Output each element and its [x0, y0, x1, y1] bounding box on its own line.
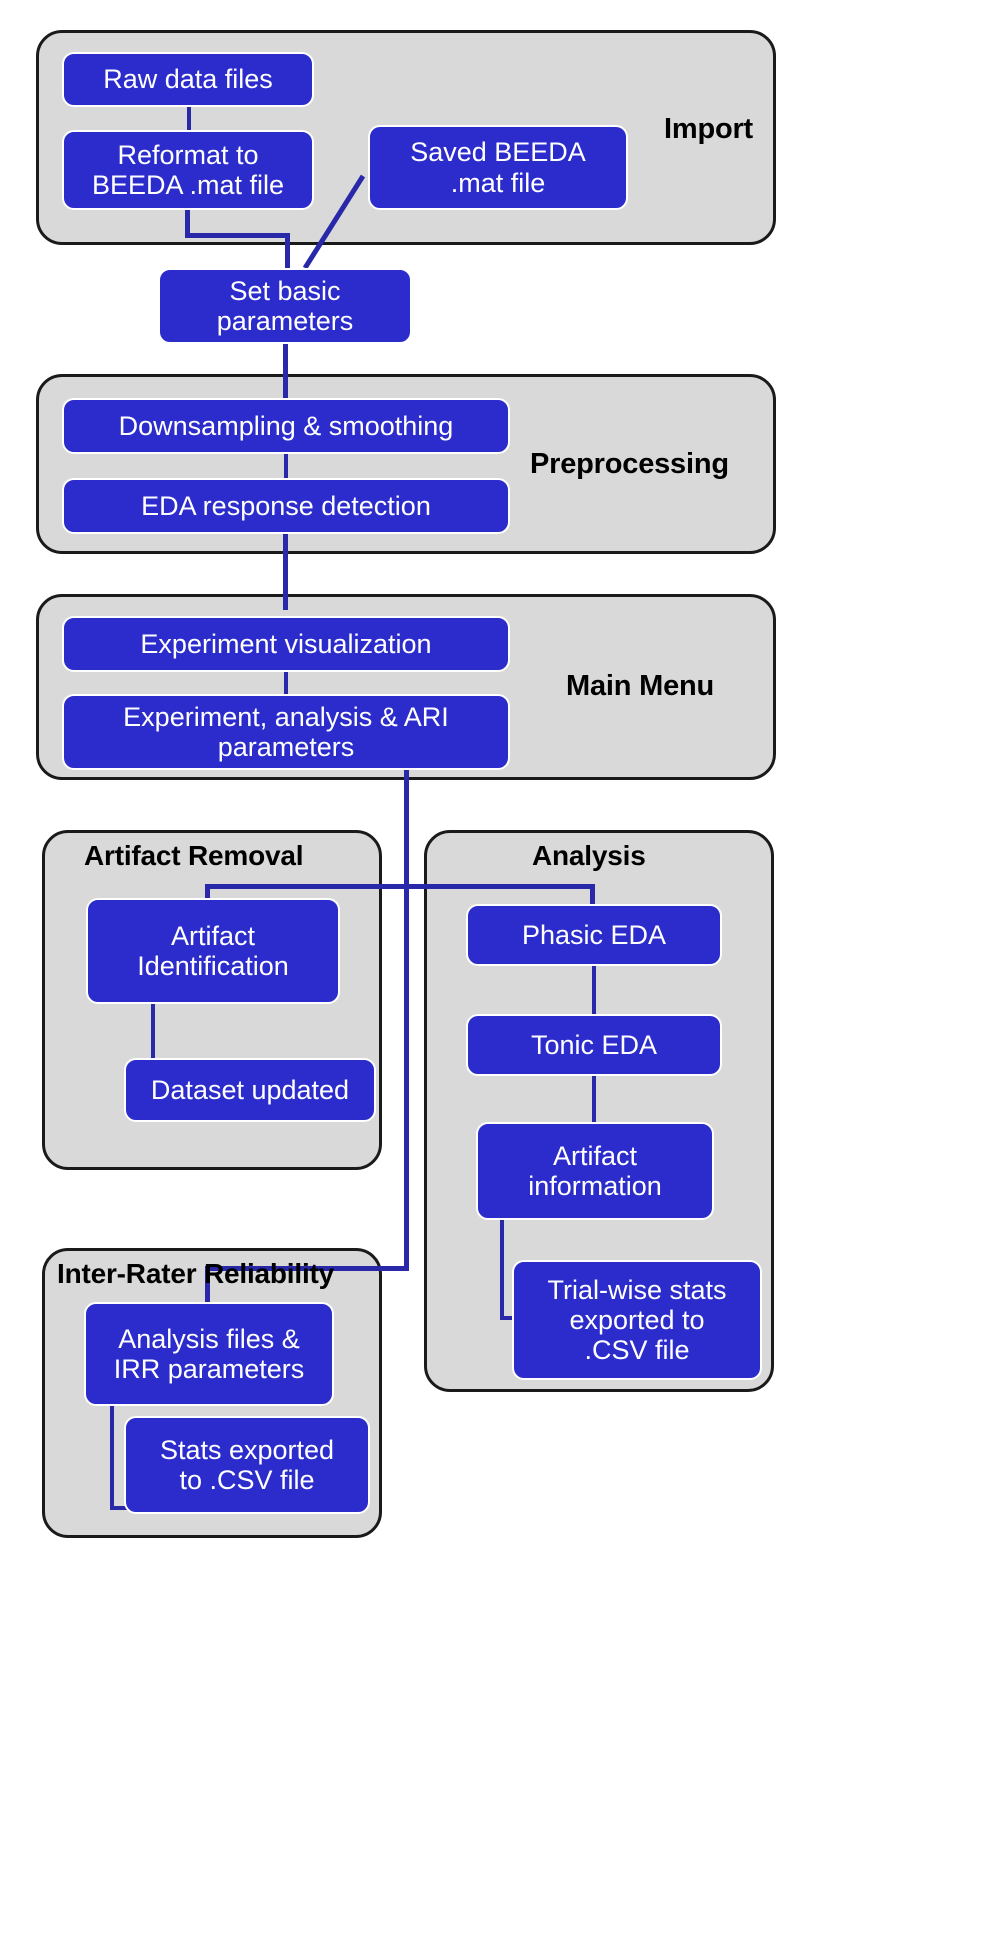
- node-experiment-params-line2: parameters: [70, 732, 502, 762]
- group-label-main-menu: Main Menu: [566, 670, 714, 703]
- group-label-inter-rater-reliability: Inter-Rater Reliability: [57, 1258, 334, 1290]
- connector-expvis-to-expparams: [284, 672, 288, 694]
- node-analysis-files-line1: Analysis files &: [92, 1324, 326, 1354]
- group-label-analysis: Analysis: [532, 840, 646, 872]
- node-artifact-id-line1: Artifact: [94, 921, 332, 951]
- node-trial-wise-line3: .CSV file: [520, 1335, 754, 1365]
- flowchart-canvas: Import Raw data files Reformat to BEEDA …: [0, 0, 1000, 1958]
- node-downsampling-smoothing[interactable]: Downsampling & smoothing: [62, 398, 510, 454]
- node-set-basic-line2: parameters: [166, 306, 404, 336]
- node-trial-wise-line2: exported to: [520, 1305, 754, 1335]
- node-experiment-params-line1: Experiment, analysis & ARI: [70, 702, 502, 732]
- node-tonic-eda-line1: Tonic EDA: [474, 1030, 714, 1060]
- group-label-preprocessing: Preprocessing: [530, 448, 729, 481]
- node-artifact-information[interactable]: Artifact information: [476, 1122, 714, 1220]
- node-stats-exported-line1: Stats exported: [132, 1435, 362, 1465]
- group-label-import: Import: [664, 113, 753, 146]
- node-stats-exported[interactable]: Stats exported to .CSV file: [124, 1416, 370, 1514]
- node-artifact-info-line2: information: [484, 1171, 706, 1201]
- node-saved-beeda-mat-file[interactable]: Saved BEEDA .mat file: [368, 125, 628, 210]
- connector-trunk-to-artifact-removal: [205, 884, 409, 889]
- connector-phasic-to-tonic: [592, 966, 596, 1016]
- connector-tonic-to-artifactinfo: [592, 1076, 596, 1124]
- node-set-basic-parameters[interactable]: Set basic parameters: [158, 268, 412, 344]
- node-phasic-eda[interactable]: Phasic EDA: [466, 904, 722, 966]
- node-analysis-files-irr-parameters[interactable]: Analysis files & IRR parameters: [84, 1302, 334, 1406]
- node-stats-exported-line2: to .CSV file: [132, 1465, 362, 1495]
- node-analysis-files-line2: IRR parameters: [92, 1354, 326, 1384]
- connector-setbasic-to-preprocessing: [283, 344, 288, 400]
- node-trial-wise-stats[interactable]: Trial-wise stats exported to .CSV file: [512, 1260, 762, 1380]
- node-experiment-vis-line1: Experiment visualization: [70, 629, 502, 659]
- node-artifact-identification[interactable]: Artifact Identification: [86, 898, 340, 1004]
- connector-analysis-branch-down: [590, 884, 595, 904]
- node-reformat-line1: Reformat to: [70, 140, 306, 170]
- node-downsampling-line1: Downsampling & smoothing: [70, 411, 502, 441]
- connector-preprocessing-to-mainmenu: [283, 534, 288, 610]
- node-saved-beeda-line2: .mat file: [376, 168, 620, 198]
- node-tonic-eda[interactable]: Tonic EDA: [466, 1014, 722, 1076]
- connector-trunk-to-analysis: [404, 884, 595, 889]
- connector-analysisfiles-to-stats-v: [110, 1406, 114, 1510]
- node-set-basic-line1: Set basic: [166, 276, 404, 306]
- node-eda-response-line1: EDA response detection: [70, 491, 502, 521]
- group-label-artifact-removal: Artifact Removal: [84, 840, 303, 872]
- node-raw-data-files-line1: Raw data files: [70, 64, 306, 94]
- node-reformat-line2: BEEDA .mat file: [70, 170, 306, 200]
- node-dataset-updated[interactable]: Dataset updated: [124, 1058, 376, 1122]
- connector-downsampling-to-eda: [284, 454, 288, 478]
- node-experiment-visualization[interactable]: Experiment visualization: [62, 616, 510, 672]
- node-eda-response-detection[interactable]: EDA response detection: [62, 478, 510, 534]
- node-reformat-to-beeda[interactable]: Reformat to BEEDA .mat file: [62, 130, 314, 210]
- node-dataset-updated-line1: Dataset updated: [132, 1075, 368, 1105]
- node-experiment-analysis-ari-parameters[interactable]: Experiment, analysis & ARI parameters: [62, 694, 510, 770]
- node-raw-data-files[interactable]: Raw data files: [62, 52, 314, 107]
- node-artifact-info-line1: Artifact: [484, 1141, 706, 1171]
- connector-main-trunk-vertical: [404, 770, 409, 1270]
- node-phasic-eda-line1: Phasic EDA: [474, 920, 714, 950]
- node-artifact-id-line2: Identification: [94, 951, 332, 981]
- node-trial-wise-line1: Trial-wise stats: [520, 1275, 754, 1305]
- node-saved-beeda-line1: Saved BEEDA: [376, 137, 620, 167]
- connector-artifactinfo-to-trialstats-v: [500, 1220, 504, 1320]
